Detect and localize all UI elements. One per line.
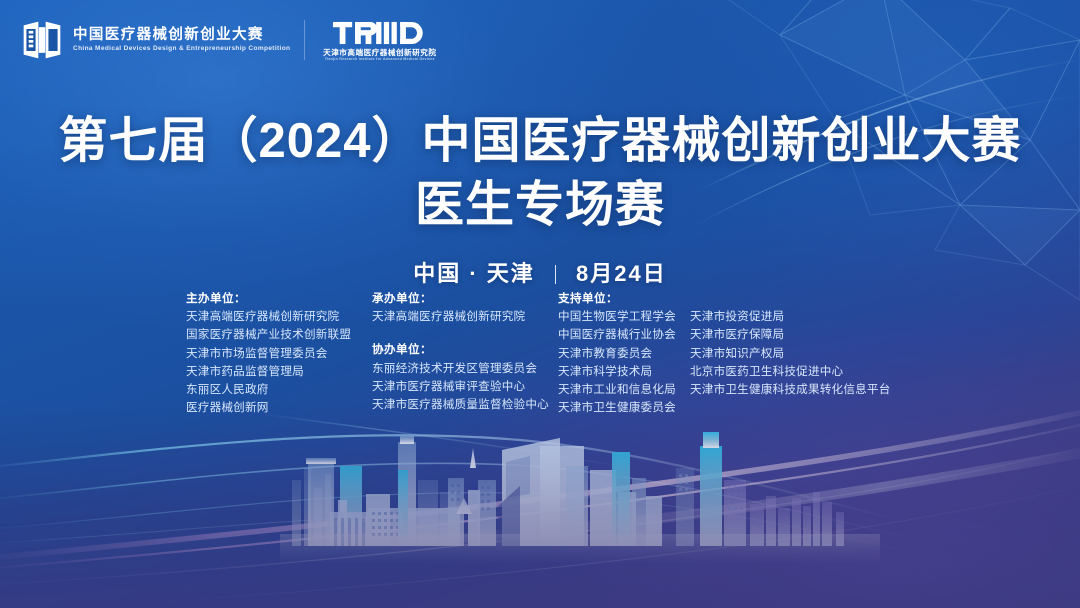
organizer-item: 天津市工业和信息化局 xyxy=(558,381,690,399)
subtitle-separator xyxy=(555,265,556,284)
primary-logo[interactable]: 中国医疗器械创新创业大赛 China Medical Devices Desig… xyxy=(20,18,286,62)
organizer-item: 天津高端医疗器械创新研究院 xyxy=(186,308,372,326)
organizer-column-3: 支持单位： 中国生物医学工程学会 中国医疗器械行业协会 天津市教育委员会 天津市… xyxy=(558,290,690,417)
organizer-item: 天津市医疗保障局 xyxy=(690,326,891,344)
organizer-item: 天津市市场监督管理委员会 xyxy=(186,345,372,363)
organizer-item: 天津高端医疗器械创新研究院 xyxy=(372,308,558,326)
organizer-item: 天津市医疗器械质量监督检验中心 xyxy=(372,396,558,414)
organizer-item: 东丽区人民政府 xyxy=(186,381,372,399)
organizer-group: 承办单位： 天津高端医疗器械创新研究院 xyxy=(372,290,558,326)
event-poster: 中国医疗器械创新创业大赛 China Medical Devices Desig… xyxy=(0,0,1080,608)
organizer-item: 天津市教育委员会 xyxy=(558,345,690,363)
organizer-group: 主办单位： 天津高端医疗器械创新研究院 国家医疗器械产业技术创新联盟 天津市市场… xyxy=(186,290,372,417)
organizer-item: 中国医疗器械行业协会 xyxy=(558,326,690,344)
organizer-item: 医疗器械创新网 xyxy=(186,399,372,417)
trimd-wordmark-icon xyxy=(332,18,428,48)
organizer-group-title: 协办单位： xyxy=(372,341,558,359)
organizer-item: 天津市卫生健康科技成果转化信息平台 xyxy=(690,381,891,399)
organizer-group-title: 主办单位： xyxy=(186,290,372,308)
organizer-item: 天津市知识产权局 xyxy=(690,345,891,363)
subtitle-location: 中国 · 天津 xyxy=(413,261,535,286)
organizer-item: 天津市卫生健康委员会 xyxy=(558,399,690,417)
organizer-column-1: 主办单位： 天津高端医疗器械创新研究院 国家医疗器械产业技术创新联盟 天津市市场… xyxy=(186,290,372,417)
organizer-credits: 主办单位： 天津高端医疗器械创新研究院 国家医疗器械产业技术创新联盟 天津市市场… xyxy=(186,290,891,417)
organizer-group: 天津市投资促进局 天津市医疗保障局 天津市知识产权局 北京市医药卫生科技促进中心… xyxy=(690,290,891,399)
open-door-window-icon xyxy=(20,18,64,62)
primary-logo-cn-name: 中国医疗器械创新创业大赛 xyxy=(73,28,286,43)
logo-divider xyxy=(304,20,305,60)
background-bottom-shade xyxy=(0,401,1080,608)
organizer-group: 协办单位： 东丽经济技术开发区管理委员会 天津市医疗器械审评查验中心 天津市医疗… xyxy=(372,341,558,414)
primary-logo-en-name: China Medical Devices Design & Entrepren… xyxy=(73,45,290,52)
organizer-item: 天津市投资促进局 xyxy=(690,308,891,326)
subtitle-date: 8月24日 xyxy=(576,261,667,286)
organizer-item: 天津市医疗器械审评查验中心 xyxy=(372,378,558,396)
poster-title: 第七届（2024）中国医疗器械创新创业大赛 医生专场赛 xyxy=(0,112,1080,236)
organizer-item: 天津市科学技术局 xyxy=(558,363,690,381)
organizer-group: 支持单位： 中国生物医学工程学会 中国医疗器械行业协会 天津市教育委员会 天津市… xyxy=(558,290,690,417)
title-line-2: 医生专场赛 xyxy=(0,176,1080,236)
secondary-logo[interactable]: 天津市高端医疗器械创新研究院 Tianjin Research Institut… xyxy=(323,18,436,62)
header-logo-bar: 中国医疗器械创新创业大赛 China Medical Devices Desig… xyxy=(20,18,436,62)
organizer-column-4-spacer xyxy=(690,290,891,308)
organizer-item: 北京市医药卫生科技促进中心 xyxy=(690,363,891,381)
secondary-logo-cn-name: 天津市高端医疗器械创新研究院 xyxy=(323,49,436,57)
organizer-column-4: 天津市投资促进局 天津市医疗保障局 天津市知识产权局 北京市医药卫生科技促进中心… xyxy=(690,290,891,399)
organizer-item: 国家医疗器械产业技术创新联盟 xyxy=(186,326,372,344)
organizer-column-2: 承办单位： 天津高端医疗器械创新研究院 协办单位： 东丽经济技术开发区管理委员会… xyxy=(372,290,558,414)
poster-subtitle: 中国 · 天津 8月24日 xyxy=(0,256,1080,288)
organizer-group-title: 承办单位： xyxy=(372,290,558,308)
organizer-item: 中国生物医学工程学会 xyxy=(558,308,690,326)
organizer-item: 天津市药品监督管理局 xyxy=(186,363,372,381)
secondary-logo-en-name: Tianjin Research Institute for Advanced … xyxy=(325,58,435,62)
organizer-item: 东丽经济技术开发区管理委员会 xyxy=(372,360,558,378)
title-line-1: 第七届（2024）中国医疗器械创新创业大赛 xyxy=(0,112,1080,172)
organizer-group-title: 支持单位： xyxy=(558,290,690,308)
